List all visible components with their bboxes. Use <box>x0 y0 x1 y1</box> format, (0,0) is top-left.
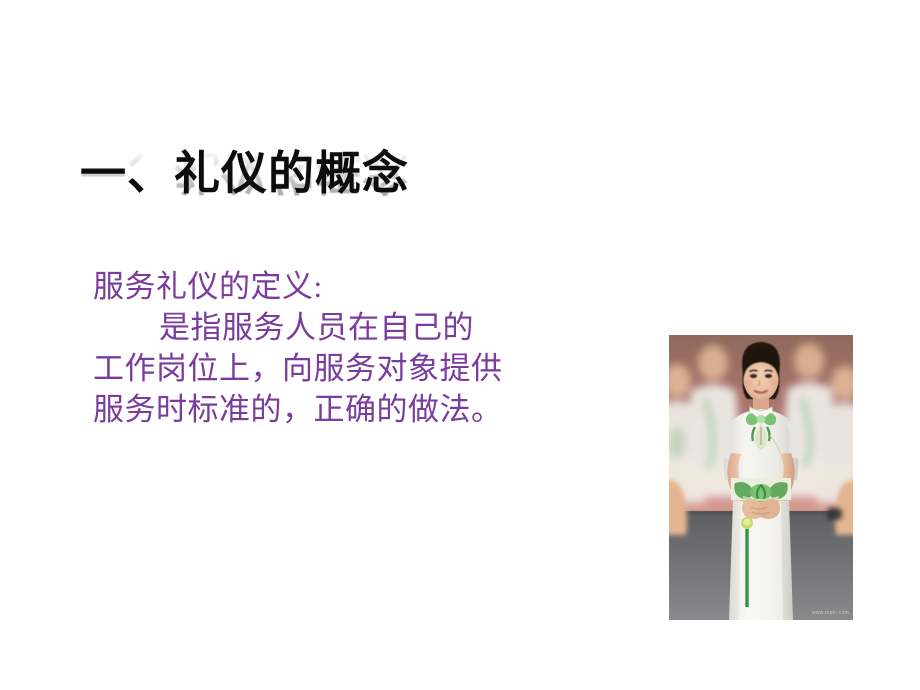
page-title: 一、礼仪的概念 <box>80 146 500 202</box>
definition-line-4: 服务时标准的，正确的做法。 <box>93 389 593 430</box>
photo-watermark: www.nipic.com <box>812 610 849 616</box>
etiquette-model-photo: www.nipic.com <box>669 335 853 620</box>
definition-paragraph: 服务礼仪的定义: 是指服务人员在自己的 工作岗位上，向服务对象提供 服务时标准的… <box>93 266 593 430</box>
photo-illustration <box>669 335 853 620</box>
slide-canvas: 一、礼仪的概念 一、礼仪的概念 服务礼仪的定义: 是指服务人员在自己的 工作岗位… <box>0 0 920 690</box>
definition-line-2: 是指服务人员在自己的 <box>93 307 593 348</box>
slide-title-block: 一、礼仪的概念 一、礼仪的概念 <box>80 146 500 256</box>
definition-line-3: 工作岗位上，向服务对象提供 <box>93 348 593 389</box>
definition-line-1: 服务礼仪的定义: <box>93 266 593 307</box>
